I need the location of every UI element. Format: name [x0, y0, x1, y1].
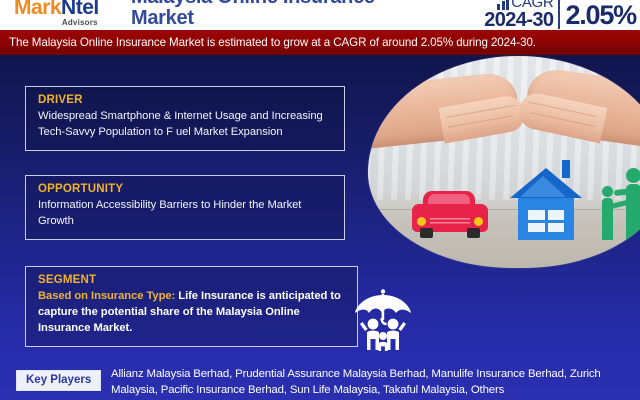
cagr-block: CAGR 2024-30 2.05% [484, 0, 636, 30]
company-logo[interactable]: MarkNtel Advisors [14, 0, 99, 27]
car-wheel-left [420, 228, 433, 238]
car-headlight-right [474, 217, 483, 226]
car-grill [430, 218, 470, 226]
cagr-divider [558, 0, 560, 29]
cagr-value: 2.05% [565, 2, 636, 30]
cagr-years: 2024-30 [484, 10, 553, 30]
family-child-head [602, 186, 613, 197]
umbrella-family-icon [352, 286, 414, 352]
logo-ntel-text: Ntel [61, 0, 99, 19]
page-title: Malaysia Online Insurance Market [131, 0, 431, 29]
red-car-icon [412, 188, 488, 238]
opportunity-heading: OPPORTUNITY [38, 183, 333, 195]
family-adult1-head [626, 168, 640, 183]
segment-box: SEGMENT Based on Insurance Type: Life In… [25, 266, 358, 347]
segment-body: Based on Insurance Type: Life Insurance … [38, 289, 346, 337]
driver-heading: DRIVER [38, 94, 333, 106]
driver-body: Widespread Smartphone & Internet Usage a… [38, 109, 333, 141]
logo-wordmark: MarkNtel [14, 0, 99, 18]
opportunity-body: Information Accessibility Barriers to Hi… [38, 198, 333, 230]
house-roof-highlight [520, 176, 566, 197]
house-window [526, 208, 566, 234]
cagr-left: CAGR 2024-30 [484, 0, 558, 30]
car-wheel-right [467, 228, 480, 238]
segment-lead: Based on Insurance Type: [38, 290, 175, 302]
insurance-photo [368, 56, 640, 268]
segment-heading: SEGMENT [38, 274, 346, 286]
header-bar: MarkNtel Advisors Malaysia Online Insura… [0, 0, 640, 30]
logo-subtitle: Advisors [14, 19, 99, 27]
blue-house-icon [510, 154, 582, 240]
green-family-icon [596, 166, 640, 242]
key-players-list: Allianz Malaysia Berhad, Prudential Assu… [111, 366, 639, 398]
summary-banner: The Malaysia Online Insurance Market is … [0, 30, 640, 55]
car-headlight-left [417, 217, 426, 226]
driver-box: DRIVER Widespread Smartphone & Internet … [25, 86, 345, 151]
infographic-root: MarkNtel Advisors Malaysia Online Insura… [0, 0, 640, 400]
finger-line [448, 115, 513, 127]
logo-mark-text: Mark [14, 0, 61, 19]
opportunity-box: OPPORTUNITY Information Accessibility Ba… [25, 175, 345, 240]
key-players-badge: Key Players [16, 370, 101, 391]
